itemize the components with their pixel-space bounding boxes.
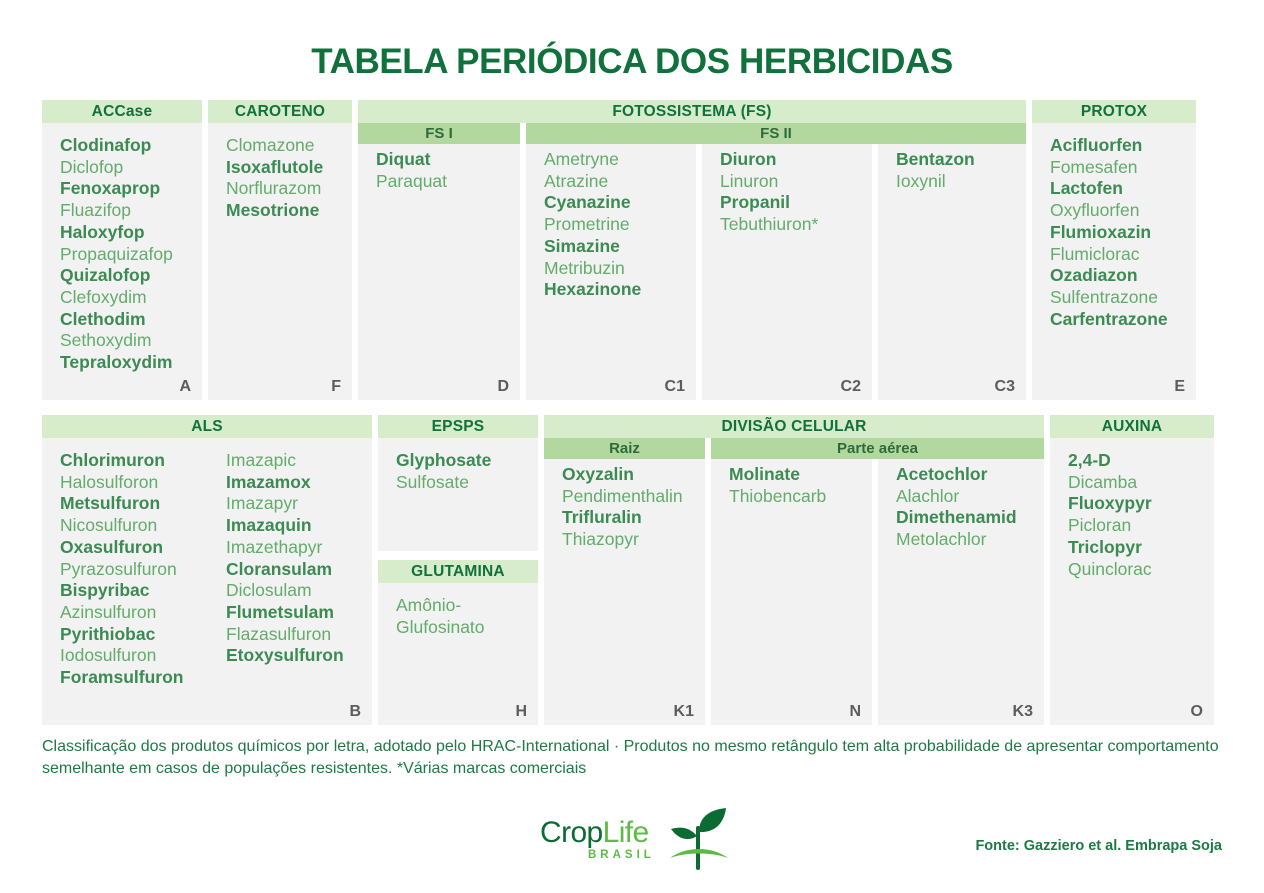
chem-item: Diquat: [376, 149, 430, 171]
herbicide-periodic-table-page: TABELA PERIÓDICA DOS HERBICIDAS ACCase C…: [0, 0, 1264, 893]
subgroup-fs2: FS II AmetryneAtrazineCyanazinePrometrin…: [526, 123, 1026, 400]
chem-item: Bentazon: [896, 149, 975, 171]
chem-item: Trifluralin: [562, 507, 642, 529]
chem-list-k3: AcetochlorAlachlorDimethenamidMetolachlo…: [878, 459, 1044, 551]
chem-list-accase: ClodinafopDiclofopFenoxapropFluazifopHal…: [42, 123, 202, 400]
fotossistema-subgroups: FS I DiquatParaquat D FS II AmetryneAtra…: [358, 123, 1026, 400]
chem-item: 2,4-D: [1068, 450, 1111, 472]
subgroup-header-parte-aerea: Parte aérea: [711, 438, 1044, 459]
chem-item: Imazapyr: [226, 493, 298, 515]
chem-item: Metsulfuron: [60, 493, 160, 515]
chem-item: Oxasulfuron: [60, 537, 163, 559]
group-letter-n: N: [849, 703, 861, 721]
chem-list-caroteno: ClomazoneIsoxaflutoleNorflurazomMesotrio…: [208, 123, 352, 400]
chem-item: Imazaquin: [226, 515, 312, 537]
chem-item: Flumiclorac: [1050, 244, 1139, 266]
chem-list-fs1: DiquatParaquat: [358, 144, 520, 400]
group-letter-accase: A: [179, 378, 191, 396]
chem-item: Amônio-: [396, 595, 461, 617]
chem-item: Ozadiazon: [1050, 265, 1138, 287]
subgroup-header-raiz: Raiz: [544, 438, 705, 459]
group-protox[interactable]: PROTOX AcifluorfenFomesafenLactofenOxyfl…: [1032, 100, 1196, 400]
chem-item: Etoxysulfuron: [226, 645, 344, 667]
chem-item: Paraquat: [376, 171, 447, 193]
chem-item: Quizalofop: [60, 265, 150, 287]
group-header-divisao-celular: DIVISÃO CELULAR: [544, 415, 1044, 438]
chem-item: Clethodim: [60, 309, 146, 331]
group-als[interactable]: ALS ChlorimuronHalosulforonMetsulfuronNi…: [42, 415, 372, 725]
chem-item: Nicosulfuron: [60, 515, 157, 537]
chem-item: Sethoxydim: [60, 330, 151, 352]
chem-item: Sulfentrazone: [1050, 287, 1158, 309]
chem-item: Halosulforon: [60, 472, 158, 494]
chem-item: Imazamox: [226, 472, 311, 494]
table-row-1: ACCase ClodinafopDiclofopFenoxapropFluaz…: [42, 100, 1222, 400]
chem-item: Foramsulfuron: [60, 667, 183, 689]
chem-item: Iodosulfuron: [60, 645, 156, 667]
logo-crop-text: Crop: [540, 816, 603, 849]
group-header-fotossistema: FOTOSSISTEMA (FS): [358, 100, 1026, 123]
group-letter-k1: K1: [674, 703, 694, 721]
subgroup-header-fs1: FS I: [358, 123, 520, 144]
chem-item: Fluazifop: [60, 200, 131, 222]
subgroup-fs1[interactable]: FS I DiquatParaquat D: [358, 123, 520, 400]
parte-aerea-columns: MolinateThiobencarb N AcetochlorAlachlor…: [711, 459, 1044, 725]
chem-item: Diuron: [720, 149, 776, 171]
chem-item: Hexazinone: [544, 279, 641, 301]
group-letter-protox: E: [1174, 378, 1185, 396]
chem-item: Cloransulam: [226, 559, 332, 581]
chem-item: Fenoxaprop: [60, 178, 160, 200]
chem-item: Sulfosate: [396, 472, 469, 494]
chem-item: Azinsulfuron: [60, 602, 156, 624]
footnote-text: Classificação dos produtos químicos por …: [42, 736, 1227, 780]
group-c3[interactable]: BentazonIoxynil C3: [878, 144, 1026, 400]
group-header-epsps: EPSPS: [378, 415, 538, 438]
chem-item: Oxyfluorfen: [1050, 200, 1139, 222]
chem-item: Picloran: [1068, 515, 1131, 537]
als-columns: ChlorimuronHalosulforonMetsulfuronNicosu…: [42, 438, 372, 725]
sprout-icon: [668, 806, 730, 870]
chem-list-als-2: ImazapicImazamoxImazapyrImazaquinImazeth…: [208, 438, 372, 725]
chem-item: Pyrithiobac: [60, 624, 155, 646]
logo-wordmark: CropLife: [540, 816, 649, 850]
chem-item: Norflurazom: [226, 178, 321, 200]
group-c1[interactable]: AmetryneAtrazineCyanazinePrometrineSimaz…: [526, 144, 696, 400]
chem-item: Metribuzin: [544, 258, 625, 280]
group-fotossistema[interactable]: FOTOSSISTEMA (FS) FS I DiquatParaquat D …: [358, 100, 1026, 400]
chem-item: Mesotrione: [226, 200, 319, 222]
chem-item: Molinate: [729, 464, 800, 486]
chem-item: Tepraloxydim: [60, 352, 173, 374]
chem-item: Glufosinato: [396, 617, 485, 639]
chem-item: Flumioxazin: [1050, 222, 1151, 244]
group-header-accase: ACCase: [42, 100, 202, 123]
logo-life-text: Life: [603, 816, 649, 849]
group-n[interactable]: MolinateThiobencarb N: [711, 459, 872, 725]
chem-item: Haloxyfop: [60, 222, 145, 244]
chem-item: Dimethenamid: [896, 507, 1017, 529]
chem-item: Glyphosate: [396, 450, 491, 472]
group-letter-c1: C1: [665, 378, 685, 396]
chem-list-c2: DiuronLinuronPropanilTebuthiuron*: [702, 144, 872, 236]
group-divisao-celular[interactable]: DIVISÃO CELULAR Raiz OxyzalinPendimentha…: [544, 415, 1044, 725]
group-column-epsps-glutamina: EPSPS GlyphosateSulfosate GLUTAMINA Amôn…: [378, 415, 538, 725]
group-letter-auxina: O: [1191, 703, 1203, 721]
chem-list-c3: BentazonIoxynil: [878, 144, 1026, 192]
chem-list-c1: AmetryneAtrazineCyanazinePrometrineSimaz…: [526, 144, 696, 301]
chem-list-als-1: ChlorimuronHalosulforonMetsulfuronNicosu…: [42, 438, 206, 725]
chem-item: Ametryne: [544, 149, 619, 171]
page-title: TABELA PERIÓDICA DOS HERBICIDAS: [0, 0, 1264, 79]
group-caroteno[interactable]: CAROTENO ClomazoneIsoxaflutoleNorflurazo…: [208, 100, 352, 400]
chem-item: Clomazone: [226, 135, 315, 157]
subgroup-parte-aerea: Parte aérea MolinateThiobencarb N Acetoc…: [711, 438, 1044, 725]
chem-item: Pyrazosulfuron: [60, 559, 177, 581]
chem-item: Metolachlor: [896, 529, 986, 551]
chem-item: Clefoxydim: [60, 287, 147, 309]
group-k3[interactable]: AcetochlorAlachlorDimethenamidMetolachlo…: [878, 459, 1044, 725]
source-credit: Fonte: Gazziero et al. Embrapa Soja: [975, 838, 1222, 854]
chem-item: Imazethapyr: [226, 537, 322, 559]
group-letter-c2: C2: [841, 378, 861, 396]
chem-item: Lactofen: [1050, 178, 1123, 200]
chem-item: Alachlor: [896, 486, 959, 508]
group-c2[interactable]: DiuronLinuronPropanilTebuthiuron* C2: [702, 144, 872, 400]
chem-item: Flumetsulam: [226, 602, 334, 624]
group-auxina[interactable]: AUXINA 2,4-DDicambaFluoxypyrPicloranTric…: [1050, 415, 1214, 725]
chem-item: Linuron: [720, 171, 778, 193]
group-glutamina[interactable]: GLUTAMINA Amônio-Glufosinato H: [378, 560, 538, 725]
chem-item: Propanil: [720, 192, 790, 214]
chem-item: Propaquizafop: [60, 244, 173, 266]
chem-list-protox: AcifluorfenFomesafenLactofenOxyfluorfenF…: [1032, 123, 1196, 400]
subgroup-header-fs2: FS II: [526, 123, 1026, 144]
chem-list-n: MolinateThiobencarb: [711, 459, 872, 507]
chem-item: Chlorimuron: [60, 450, 165, 472]
chem-item: Cyanazine: [544, 192, 631, 214]
group-letter-als: B: [349, 703, 361, 721]
group-letter-h: H: [515, 703, 527, 721]
chem-item: Ioxynil: [896, 171, 946, 193]
subgroup-raiz[interactable]: Raiz OxyzalinPendimenthalinTrifluralinTh…: [544, 438, 705, 725]
table-row-2: ALS ChlorimuronHalosulforonMetsulfuronNi…: [42, 415, 1222, 725]
group-letter-c3: C3: [995, 378, 1015, 396]
chem-item: Fluoxypyr: [1068, 493, 1152, 515]
group-epsps[interactable]: EPSPS GlyphosateSulfosate: [378, 415, 538, 551]
group-letter-d: D: [497, 378, 509, 396]
croplife-logo: CropLife BRASIL: [540, 806, 730, 872]
chem-list-glutamina: Amônio-Glufosinato: [378, 583, 538, 725]
chem-item: Carfentrazone: [1050, 309, 1168, 331]
chem-item: Thiobencarb: [729, 486, 826, 508]
logo-brasil-text: BRASIL: [588, 849, 655, 861]
chem-item: Imazapic: [226, 450, 296, 472]
chem-item: Dicamba: [1068, 472, 1137, 494]
chem-item: Bispyribac: [60, 580, 149, 602]
divisao-celular-subgroups: Raiz OxyzalinPendimenthalinTrifluralinTh…: [544, 438, 1044, 725]
als-column-1: ChlorimuronHalosulforonMetsulfuronNicosu…: [42, 438, 206, 725]
chem-item: Diclosulam: [226, 580, 312, 602]
group-header-protox: PROTOX: [1032, 100, 1196, 123]
chem-item: Acetochlor: [896, 464, 987, 486]
chem-list-raiz: OxyzalinPendimenthalinTrifluralinThiazop…: [544, 459, 705, 725]
group-letter-caroteno: F: [331, 378, 341, 396]
als-column-2: ImazapicImazamoxImazapyrImazaquinImazeth…: [206, 438, 372, 725]
chem-item: Atrazine: [544, 171, 608, 193]
group-accase[interactable]: ACCase ClodinafopDiclofopFenoxapropFluaz…: [42, 100, 202, 400]
fs2-columns: AmetryneAtrazineCyanazinePrometrineSimaz…: [526, 144, 1026, 400]
chem-item: Triclopyr: [1068, 537, 1142, 559]
chem-item: Diclofop: [60, 157, 123, 179]
chem-item: Acifluorfen: [1050, 135, 1142, 157]
chem-list-epsps: GlyphosateSulfosate: [378, 438, 538, 551]
chem-item: Clodinafop: [60, 135, 151, 157]
group-header-glutamina: GLUTAMINA: [378, 560, 538, 583]
chem-item: Pendimenthalin: [562, 486, 683, 508]
chem-item: Isoxaflutole: [226, 157, 323, 179]
group-header-als: ALS: [42, 415, 372, 438]
chem-item: Simazine: [544, 236, 620, 258]
chem-item: Tebuthiuron*: [720, 214, 818, 236]
chem-item: Fomesafen: [1050, 157, 1138, 179]
chem-item: Thiazopyr: [562, 529, 639, 551]
chem-item: Quinclorac: [1068, 559, 1152, 581]
group-header-auxina: AUXINA: [1050, 415, 1214, 438]
chem-item: Prometrine: [544, 214, 630, 236]
group-letter-k3: K3: [1013, 703, 1033, 721]
chem-item: Oxyzalin: [562, 464, 634, 486]
chem-list-auxina: 2,4-DDicambaFluoxypyrPicloranTriclopyrQu…: [1050, 438, 1214, 725]
group-header-caroteno: CAROTENO: [208, 100, 352, 123]
chem-item: Flazasulfuron: [226, 624, 331, 646]
